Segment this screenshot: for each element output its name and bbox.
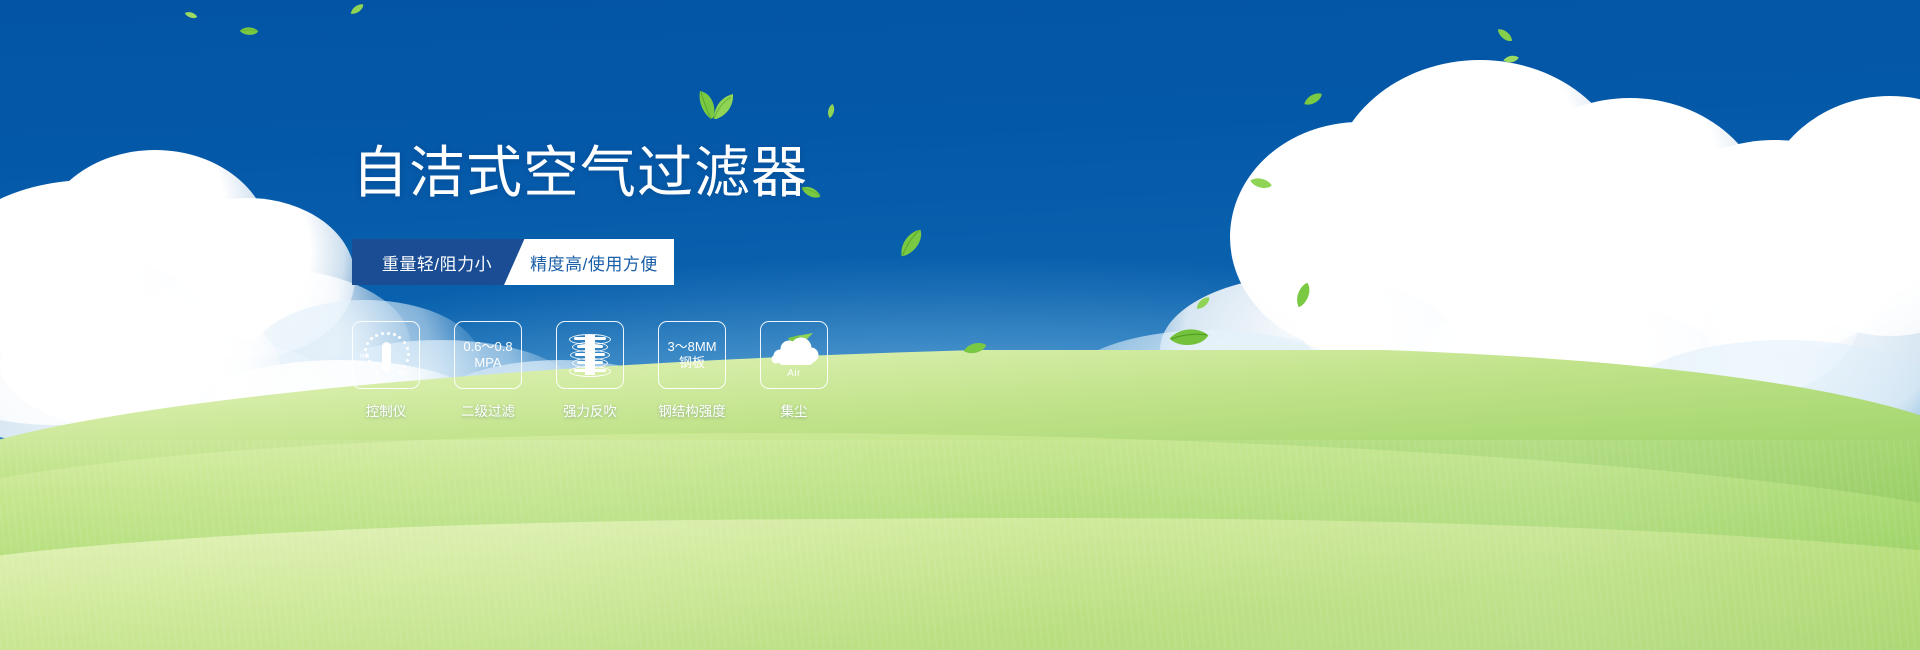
pressure-text-icon: 0.6～0.8 MPA bbox=[463, 339, 512, 372]
gauge-needle-icon bbox=[382, 342, 391, 372]
tab-label: 精度高/使用方便 bbox=[530, 250, 658, 275]
feature-icon-box: NO OFF bbox=[352, 321, 420, 389]
feature-label: 集尘 bbox=[781, 400, 808, 420]
filter-stack-icon bbox=[567, 332, 613, 378]
feature-text-line2: MPA bbox=[463, 355, 512, 371]
feature-icon-box: 0.6～0.8 MPA bbox=[454, 321, 522, 389]
gauge-min-label: NO bbox=[360, 354, 370, 360]
feature-icon-box bbox=[556, 321, 624, 389]
grass-texture bbox=[0, 440, 1920, 650]
banner-stage: 自洁式空气过滤器 重量轻/阻力小 精度高/使用方便 bbox=[0, 0, 1920, 650]
feature-text-line2: 钢板 bbox=[667, 355, 716, 371]
feature-label: 强力反吹 bbox=[563, 400, 617, 420]
feature-item-controller[interactable]: NO OFF 控制仪 bbox=[352, 321, 420, 420]
feature-text-line1: 0.6～0.8 bbox=[463, 339, 512, 354]
feature-list: NO OFF 控制仪 0.6～0.8 MPA 二级过滤 bbox=[352, 321, 1112, 420]
page-title: 自洁式空气过滤器 bbox=[352, 146, 1112, 202]
gauge-dial-icon: NO OFF bbox=[359, 330, 413, 380]
leaf-pair-icon bbox=[684, 86, 742, 120]
feature-label: 二级过滤 bbox=[461, 400, 515, 420]
tab-lightweight-lowresistance[interactable]: 重量轻/阻力小 bbox=[352, 239, 528, 285]
feature-icon-box: 3～8MM 钢板 bbox=[658, 321, 726, 389]
tab-label: 重量轻/阻力小 bbox=[382, 250, 492, 275]
air-cloud-icon: Air bbox=[767, 332, 821, 378]
banner-content: 自洁式空气过滤器 重量轻/阻力小 精度高/使用方便 bbox=[352, 108, 1112, 420]
feature-label: 钢结构强度 bbox=[658, 400, 726, 420]
gauge-max-label: OFF bbox=[398, 372, 411, 378]
feature-item-steel-strength[interactable]: 3～8MM 钢板 钢结构强度 bbox=[658, 321, 726, 420]
subtitle-tabs: 重量轻/阻力小 精度高/使用方便 bbox=[352, 239, 674, 285]
steel-plate-text-icon: 3～8MM 钢板 bbox=[667, 339, 716, 372]
tab-precision-easyuse[interactable]: 精度高/使用方便 bbox=[504, 239, 674, 285]
feature-item-dust-collection[interactable]: Air 集尘 bbox=[760, 321, 828, 420]
feature-label: 控制仪 bbox=[366, 400, 407, 420]
feature-item-two-stage-filter[interactable]: 0.6～0.8 MPA 二级过滤 bbox=[454, 321, 522, 420]
feature-icon-box: Air bbox=[760, 321, 828, 389]
air-label: Air bbox=[767, 368, 821, 379]
feature-text-line1: 3～8MM bbox=[667, 339, 716, 354]
feature-item-strong-backblow[interactable]: 强力反吹 bbox=[556, 321, 624, 420]
